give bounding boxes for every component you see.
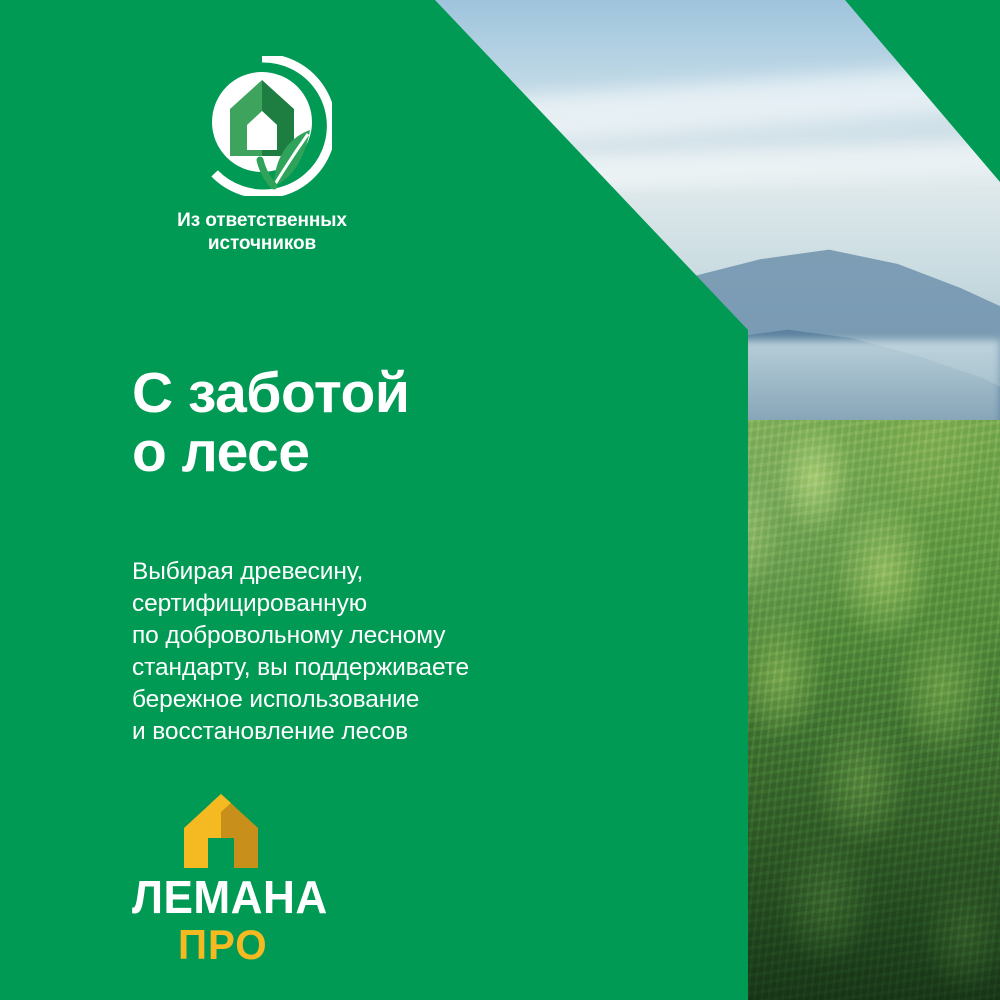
- certification-block: Из ответственных источников: [132, 56, 392, 256]
- content-layer: Из ответственных источников С заботой о …: [0, 0, 748, 1000]
- page-title: С заботой о лесе: [132, 364, 409, 481]
- brand-lockup: ЛЕМАНА ПРО: [132, 792, 332, 966]
- brand-name: ЛЕМАНА: [132, 874, 324, 920]
- responsible-sources-seal-icon: [192, 56, 332, 196]
- certification-caption: Из ответственных источников: [132, 209, 392, 256]
- brand-subname: ПРО: [178, 924, 326, 966]
- body-paragraph: Выбирая древесину, сертифицированную по …: [132, 556, 469, 749]
- lemana-house-icon: [178, 792, 264, 870]
- poster-root: Из ответственных источников С заботой о …: [0, 0, 1000, 1000]
